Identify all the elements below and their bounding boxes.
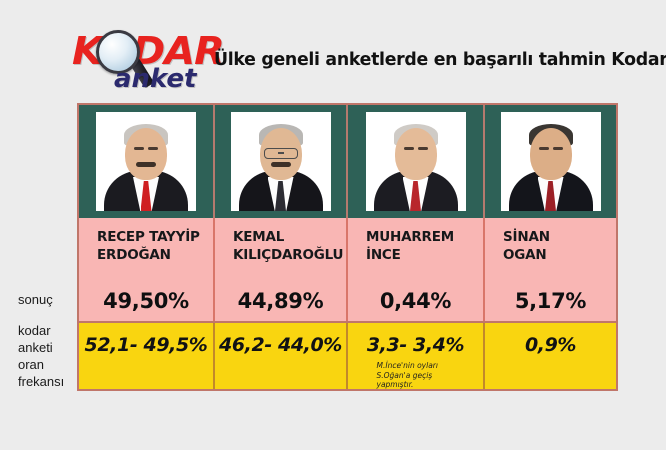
row-label-result: sonuç — [18, 291, 53, 308]
logo-wordmark-anket: anket — [114, 66, 196, 92]
frequency-cell: 52,1- 49,5% — [79, 323, 215, 389]
candidate-result-row: 49,50% 44,89% 0,44% 5,17% — [79, 281, 616, 321]
candidate-photo-cell — [79, 105, 215, 218]
candidate-last-name: OGAN — [503, 246, 616, 264]
candidate-photo-cell — [348, 105, 485, 218]
result-value: 0,44% — [348, 281, 485, 321]
frequency-cell: 0,9% — [485, 323, 616, 389]
candidate-name-cell: RECEP TAYYİP ERDOĞAN — [79, 218, 215, 281]
frequency-value: 46,2- 44,0% — [219, 334, 342, 356]
page-title: Ülke geneli anketlerde en başarılı tahmi… — [214, 50, 660, 70]
candidate-photo-erdogan — [96, 112, 196, 211]
candidate-last-name: KILIÇDAROĞLU — [233, 246, 346, 264]
frequency-note: M.İnce'nin oyları S.Oğan'a geçiş yapmışt… — [377, 361, 461, 390]
frequency-value: 3,3- 3,4% — [367, 334, 464, 356]
candidate-photo-cell — [485, 105, 616, 218]
kodar-anket-logo: KODAR anket — [72, 28, 220, 100]
frequency-cell: 46,2- 44,0% — [215, 323, 348, 389]
poll-results-table: RECEP TAYYİP ERDOĞAN KEMAL KILIÇDAROĞLU … — [77, 103, 618, 391]
candidate-name-cell: SİNAN OGAN — [485, 218, 616, 281]
candidate-last-name: ERDOĞAN — [97, 246, 213, 264]
candidate-photo-cell — [215, 105, 348, 218]
result-value: 49,50% — [79, 281, 215, 321]
frequency-cell: 3,3- 3,4% M.İnce'nin oyları S.Oğan'a geç… — [348, 323, 485, 389]
frequency-value: 52,1- 49,5% — [85, 334, 208, 356]
candidate-photo-row — [79, 105, 616, 218]
candidate-photo-ogan — [501, 112, 601, 211]
candidate-photo-ince — [366, 112, 466, 211]
candidate-name-cell: MUHARREM İNCE — [348, 218, 485, 281]
row-label-frequency: kodar anketi oran frekansı — [18, 322, 80, 390]
candidate-first-name: SİNAN — [503, 228, 616, 246]
candidate-first-name: MUHARREM — [366, 228, 483, 246]
candidate-photo-kilicdaroglu — [231, 112, 331, 211]
candidate-first-name: RECEP TAYYİP — [97, 228, 213, 246]
result-value: 5,17% — [485, 281, 616, 321]
candidate-name-cell: KEMAL KILIÇDAROĞLU — [215, 218, 348, 281]
candidate-name-row: RECEP TAYYİP ERDOĞAN KEMAL KILIÇDAROĞLU … — [79, 218, 616, 281]
candidate-frequency-row: 52,1- 49,5% 46,2- 44,0% 3,3- 3,4% M.İnce… — [79, 321, 616, 389]
eyeglasses-icon — [264, 148, 298, 159]
page-header: KODAR anket Ülke geneli anketlerde en ba… — [0, 28, 666, 98]
candidate-last-name: İNCE — [366, 246, 483, 264]
frequency-value: 0,9% — [525, 334, 576, 356]
candidate-first-name: KEMAL — [233, 228, 346, 246]
result-value: 44,89% — [215, 281, 348, 321]
